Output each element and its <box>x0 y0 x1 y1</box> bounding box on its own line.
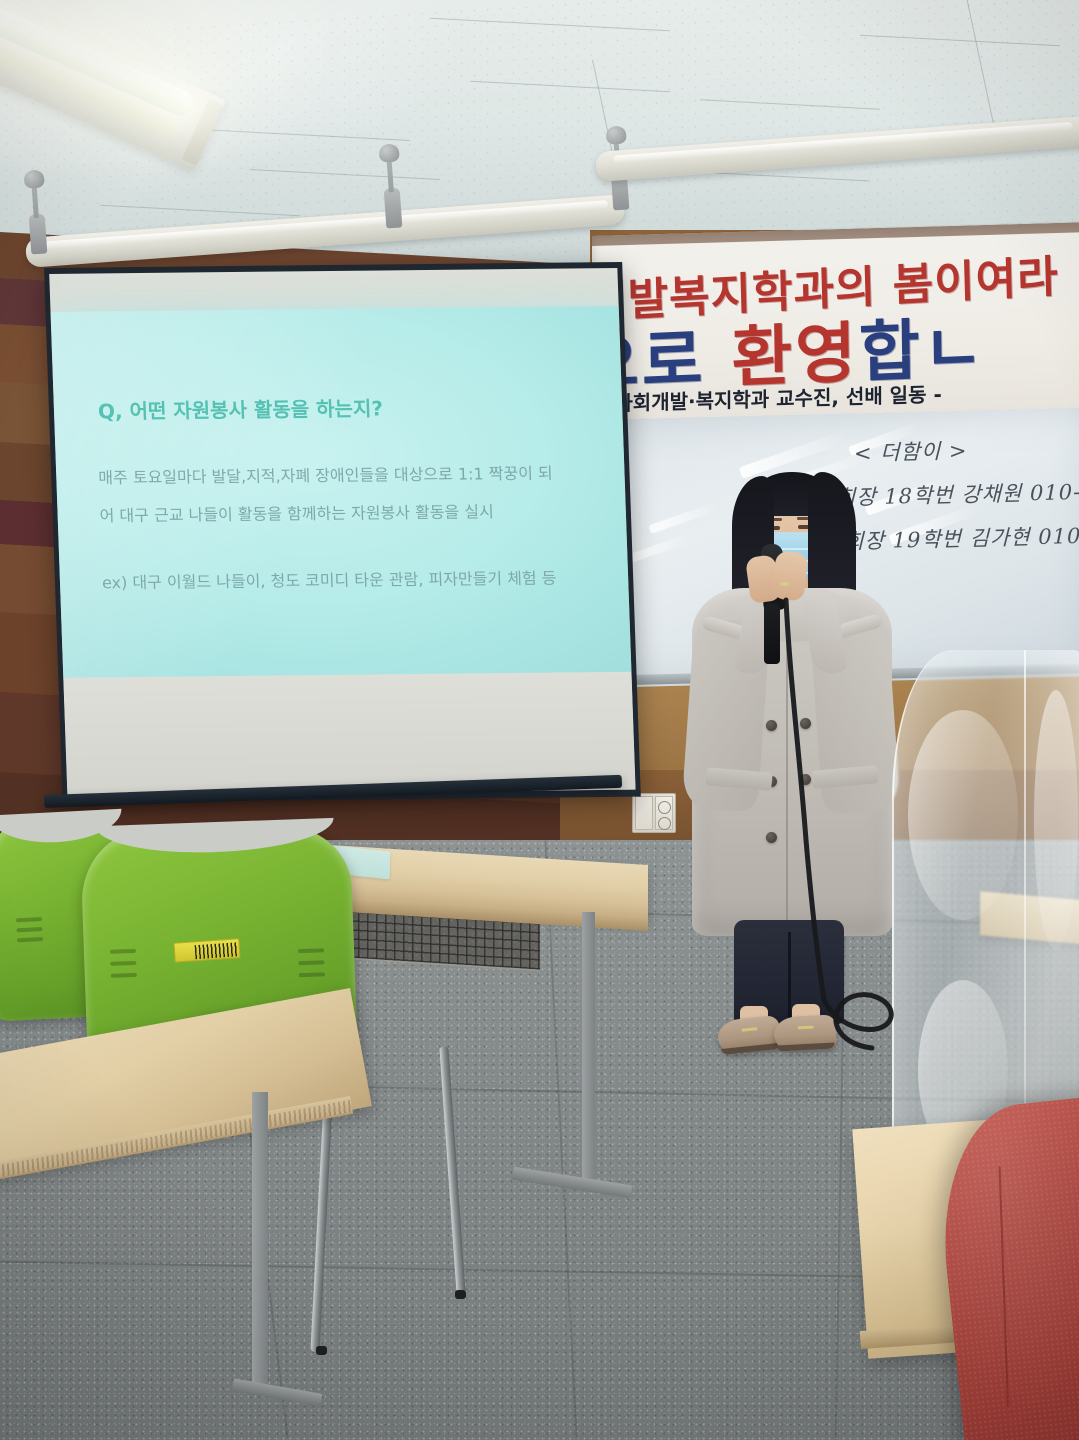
coat-button <box>800 774 811 785</box>
chair-vent <box>298 960 324 965</box>
mount-knob <box>24 169 45 188</box>
outlet-plate-blank <box>635 796 653 830</box>
slide-body: 매주 토요일마다 발달,지적,자폐 장애인들을 대상으로 1:1 짝꿍이 되 어… <box>98 454 591 535</box>
chair-vent <box>299 972 325 977</box>
partition-glare <box>1034 690 1078 950</box>
socket-hole <box>658 801 671 814</box>
outlet-plate-sockets <box>655 796 673 830</box>
coat-button <box>800 718 811 729</box>
chair-vent <box>110 961 136 966</box>
screen-mount-bracket <box>384 187 403 228</box>
chair-vent <box>16 927 42 932</box>
chair-vent <box>16 917 42 922</box>
chair-vent <box>111 973 137 978</box>
loafer-right <box>773 1014 837 1051</box>
mount-knob <box>379 143 400 162</box>
chair-leg-tip <box>316 1346 327 1355</box>
coat-center-placket <box>786 642 788 928</box>
projector-screen-surface: Q, 어떤 자원봉사 활동을 하는지? 매주 토요일마다 발달,지적,자폐 장애… <box>49 268 635 796</box>
classroom-photo-scene: 개발복지학과의 봄이여라 으로 환영합ㄴ 역사회개발·복지학과 교수진, 선배 … <box>0 0 1079 1440</box>
coat-button <box>766 832 777 843</box>
hand-right <box>772 550 809 601</box>
shoe-bit-left <box>741 1027 757 1032</box>
socket-hole <box>658 817 671 830</box>
presenter <box>688 470 898 1050</box>
shoe-bit-right <box>798 1026 814 1030</box>
microphone-body[interactable] <box>764 604 780 664</box>
projector-screen: Q, 어떤 자원봉사 활동을 하는지? 매주 토요일마다 발달,지적,자폐 장애… <box>44 262 641 803</box>
slide-body-line-2: 어 대구 근교 나들이 활동을 함께하는 자원봉사 활동을 실시 <box>99 492 590 535</box>
whiteboard-heading: < 더함이 > <box>854 435 968 468</box>
whiteboard-glare <box>628 535 688 563</box>
partition-glare <box>908 710 1018 920</box>
chair-label-barcode <box>195 942 238 959</box>
mount-knob <box>606 125 627 144</box>
desk-back-leg <box>582 912 595 1182</box>
slide-body-line-1: 매주 토요일마다 발달,지적,자폐 장애인들을 대상으로 1:1 짝꿍이 되 <box>98 454 589 497</box>
desk-front-left-leg <box>252 1092 268 1392</box>
chair-vent <box>298 948 324 953</box>
chair-vent <box>17 937 43 942</box>
screen-mount-bracket <box>29 213 48 254</box>
welcome-banner: 개발복지학과의 봄이여라 으로 환영합ㄴ 역사회개발·복지학과 교수진, 선배 … <box>592 222 1079 428</box>
finger-ring <box>780 582 789 586</box>
chair-leg-tip <box>455 1290 466 1299</box>
jeans-inseam <box>788 932 791 1020</box>
chair-vent <box>110 949 136 954</box>
loafer-left <box>716 1015 781 1055</box>
slide-title: Q, 어떤 자원봉사 활동을 하는지? <box>97 392 383 424</box>
chair-inventory-label <box>173 938 240 963</box>
coat-button <box>766 720 777 731</box>
projected-slide: Q, 어떤 자원봉사 활동을 하는지? 매주 토요일마다 발달,지적,자폐 장애… <box>51 306 632 682</box>
wall-power-outlet[interactable] <box>632 793 676 833</box>
